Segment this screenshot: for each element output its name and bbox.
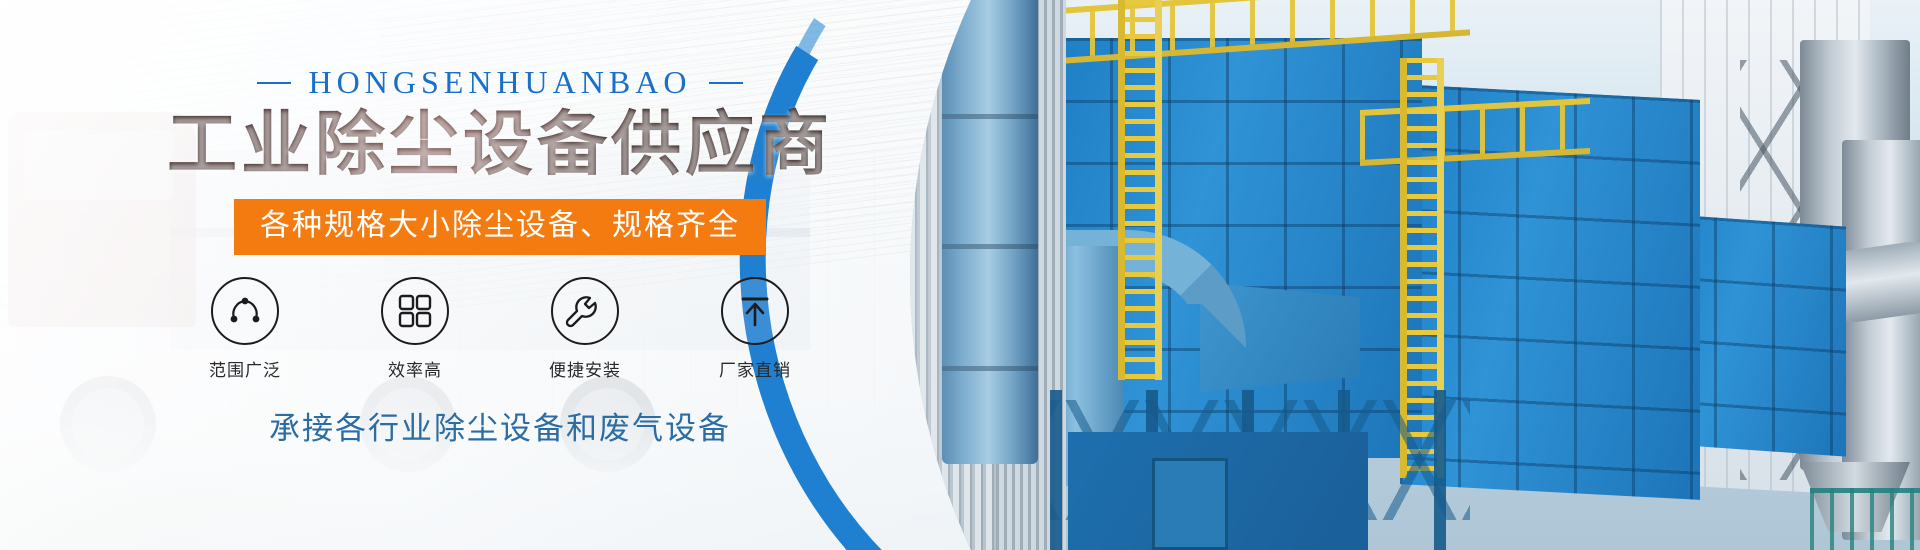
hero-banner: HONGSENHUANBAO 工业除尘设备供应商 各种规格大小除尘设备、规格齐全… bbox=[0, 0, 1920, 550]
feature-item-direct-sales[interactable]: 厂家直销 bbox=[700, 277, 810, 381]
feature-item-efficiency[interactable]: 效率高 bbox=[360, 277, 470, 381]
feature-label: 便捷安装 bbox=[530, 356, 640, 381]
share-network-icon bbox=[211, 277, 279, 345]
grid-squares-icon bbox=[381, 277, 449, 345]
page-title: 工业除尘设备供应商 bbox=[0, 107, 1000, 183]
feature-label: 效率高 bbox=[360, 356, 470, 381]
dash-left-icon bbox=[257, 82, 291, 84]
banner-content: HONGSENHUANBAO 工业除尘设备供应商 各种规格大小除尘设备、规格齐全… bbox=[0, 0, 1000, 550]
feature-item-installation[interactable]: 便捷安装 bbox=[530, 277, 640, 381]
highlight-bar: 各种规格大小除尘设备、规格齐全 bbox=[234, 199, 766, 255]
brand-eyebrow: HONGSENHUANBAO bbox=[0, 64, 1000, 101]
feature-label: 厂家直销 bbox=[700, 356, 810, 381]
highlight-bar-wrap: 各种规格大小除尘设备、规格齐全 bbox=[0, 183, 1000, 255]
wrench-icon bbox=[551, 277, 619, 345]
brand-eyebrow-text: HONGSENHUANBAO bbox=[309, 64, 692, 101]
feature-label: 范围广泛 bbox=[190, 356, 300, 381]
banner-tagline: 承接各行业除尘设备和废气设备 bbox=[0, 403, 1000, 448]
upload-arrow-icon bbox=[721, 277, 789, 345]
dash-right-icon bbox=[709, 82, 743, 84]
feature-list: 范围广泛 效率高 bbox=[0, 277, 1000, 381]
feature-item-coverage[interactable]: 范围广泛 bbox=[190, 277, 300, 381]
